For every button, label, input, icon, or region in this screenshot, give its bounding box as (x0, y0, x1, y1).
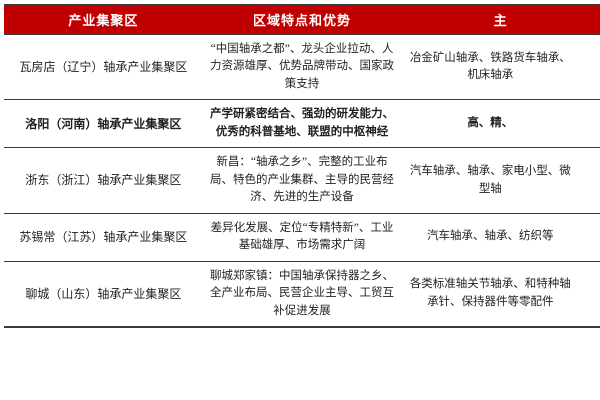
cell-products: 冶金矿山轴承、铁路货车轴承、机床轴承 (401, 35, 600, 100)
cell-features: 聊城郑家镇：中国轴承保持器之乡、全产业布局、民营企业主导、工贸互补促进发展 (203, 261, 402, 327)
table-body: 瓦房店（辽宁）轴承产业集聚区 “中国轴承之都”、龙头企业拉动、人力资源雄厚、优势… (4, 35, 600, 328)
cell-region: 瓦房店（辽宁）轴承产业集聚区 (4, 35, 203, 100)
cell-products-text: 冶金矿山轴承、铁路货车轴承、机床轴承 (405, 50, 575, 85)
column-header-region: 产业集聚区 (4, 5, 203, 35)
table-row: 洛阳（河南）轴承产业集聚区 产学研紧密结合、强劲的研发能力、优秀的科普基地、联盟… (4, 100, 600, 148)
cell-features: “中国轴承之都”、龙头企业拉动、人力资源雄厚、优势品牌带动、国家政策支持 (203, 35, 402, 100)
column-header-products: 主 (401, 5, 600, 35)
cell-features: 新昌：“轴承之乡”、完整的工业布局、特色的产业集群、主导的民营经济、先进的生产设… (203, 148, 402, 213)
cell-products-text: 汽车轴承、轴承、家电小型、微型轴 (405, 163, 575, 198)
cell-products: 高、精、 (401, 100, 600, 148)
cell-region: 洛阳（河南）轴承产业集聚区 (4, 100, 203, 148)
cell-products-text: 汽车轴承、轴承、纺织等 (405, 228, 575, 245)
cell-region: 聊城（山东）轴承产业集聚区 (4, 261, 203, 327)
cell-features: 产学研紧密结合、强劲的研发能力、优秀的科普基地、联盟的中枢神经 (203, 100, 402, 148)
cell-region: 苏锡常（江苏）轴承产业集聚区 (4, 213, 203, 261)
table-page: 产业集聚区 区域特点和优势 主 瓦房店（辽宁）轴承产业集聚区 “中国轴承之都”、… (0, 0, 600, 400)
table-row: 瓦房店（辽宁）轴承产业集聚区 “中国轴承之都”、龙头企业拉动、人力资源雄厚、优势… (4, 35, 600, 100)
industry-cluster-table: 产业集聚区 区域特点和优势 主 瓦房店（辽宁）轴承产业集聚区 “中国轴承之都”、… (4, 4, 600, 328)
table-header-row: 产业集聚区 区域特点和优势 主 (4, 5, 600, 35)
cell-products-text: 各类标准轴关节轴承、和特种轴承针、保持器件等零配件 (405, 276, 575, 311)
table-row: 苏锡常（江苏）轴承产业集聚区 差异化发展、定位“专精特新”、工业基础雄厚、市场需… (4, 213, 600, 261)
cell-products: 各类标准轴关节轴承、和特种轴承针、保持器件等零配件 (401, 261, 600, 327)
cell-features: 差异化发展、定位“专精特新”、工业基础雄厚、市场需求广阔 (203, 213, 402, 261)
table-row: 浙东（浙江）轴承产业集聚区 新昌：“轴承之乡”、完整的工业布局、特色的产业集群、… (4, 148, 600, 213)
column-header-features: 区域特点和优势 (203, 5, 402, 35)
table-row: 聊城（山东）轴承产业集聚区 聊城郑家镇：中国轴承保持器之乡、全产业布局、民营企业… (4, 261, 600, 327)
table-header: 产业集聚区 区域特点和优势 主 (4, 5, 600, 35)
cell-products: 汽车轴承、轴承、家电小型、微型轴 (401, 148, 600, 213)
cell-products-text: 高、精、 (405, 115, 575, 132)
cell-products: 汽车轴承、轴承、纺织等 (401, 213, 600, 261)
cell-region: 浙东（浙江）轴承产业集聚区 (4, 148, 203, 213)
